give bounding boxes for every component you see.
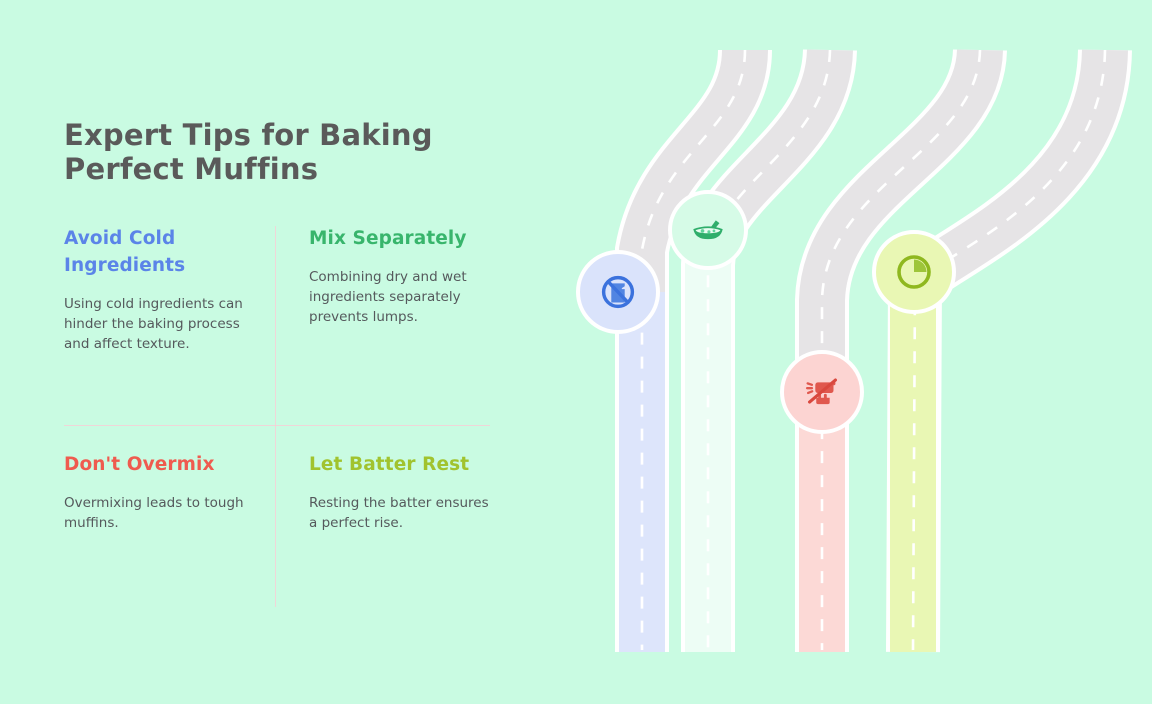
timer-quarter-icon <box>890 248 938 296</box>
tip-body: Combining dry and wet ingredients separa… <box>309 267 499 328</box>
tip-heading: Avoid Cold Ingredients <box>64 226 254 280</box>
node-let-batter-rest[interactable] <box>872 230 956 314</box>
node-avoid-cold-ingredients[interactable] <box>576 250 660 334</box>
tip-card-let-batter-rest: Let Batter Rest Resting the batter ensur… <box>309 452 499 533</box>
tips-grid: Avoid Cold Ingredients Using cold ingred… <box>64 226 492 606</box>
node-mix-separately[interactable] <box>668 190 748 270</box>
no-milk-carton-icon <box>595 269 641 315</box>
roads-illustration <box>560 0 1152 704</box>
tip-card-avoid-cold-ingredients: Avoid Cold Ingredients Using cold ingred… <box>64 226 254 354</box>
no-hand-mixer-icon <box>799 369 845 415</box>
tip-card-mix-separately: Mix Separately Combining dry and wet ing… <box>309 226 499 328</box>
tip-card-dont-overmix: Don't Overmix Overmixing leads to tough … <box>64 452 254 533</box>
page-title: Expert Tips for Baking Perfect Muffins <box>64 118 484 186</box>
roads-panel <box>560 0 1152 704</box>
tip-heading: Don't Overmix <box>64 452 254 479</box>
tip-heading: Mix Separately <box>309 226 499 253</box>
node-dont-overmix[interactable] <box>780 350 864 434</box>
mixing-bowl-spoon-icon <box>686 208 730 252</box>
tip-body: Using cold ingredients can hinder the ba… <box>64 294 254 355</box>
tip-body: Overmixing leads to tough muffins. <box>64 493 254 534</box>
tip-body: Resting the batter ensures a perfect ris… <box>309 493 499 534</box>
infographic-canvas: Expert Tips for Baking Perfect Muffins A… <box>0 0 1152 704</box>
text-panel: Expert Tips for Baking Perfect Muffins A… <box>0 0 560 704</box>
tip-heading: Let Batter Rest <box>309 452 499 479</box>
